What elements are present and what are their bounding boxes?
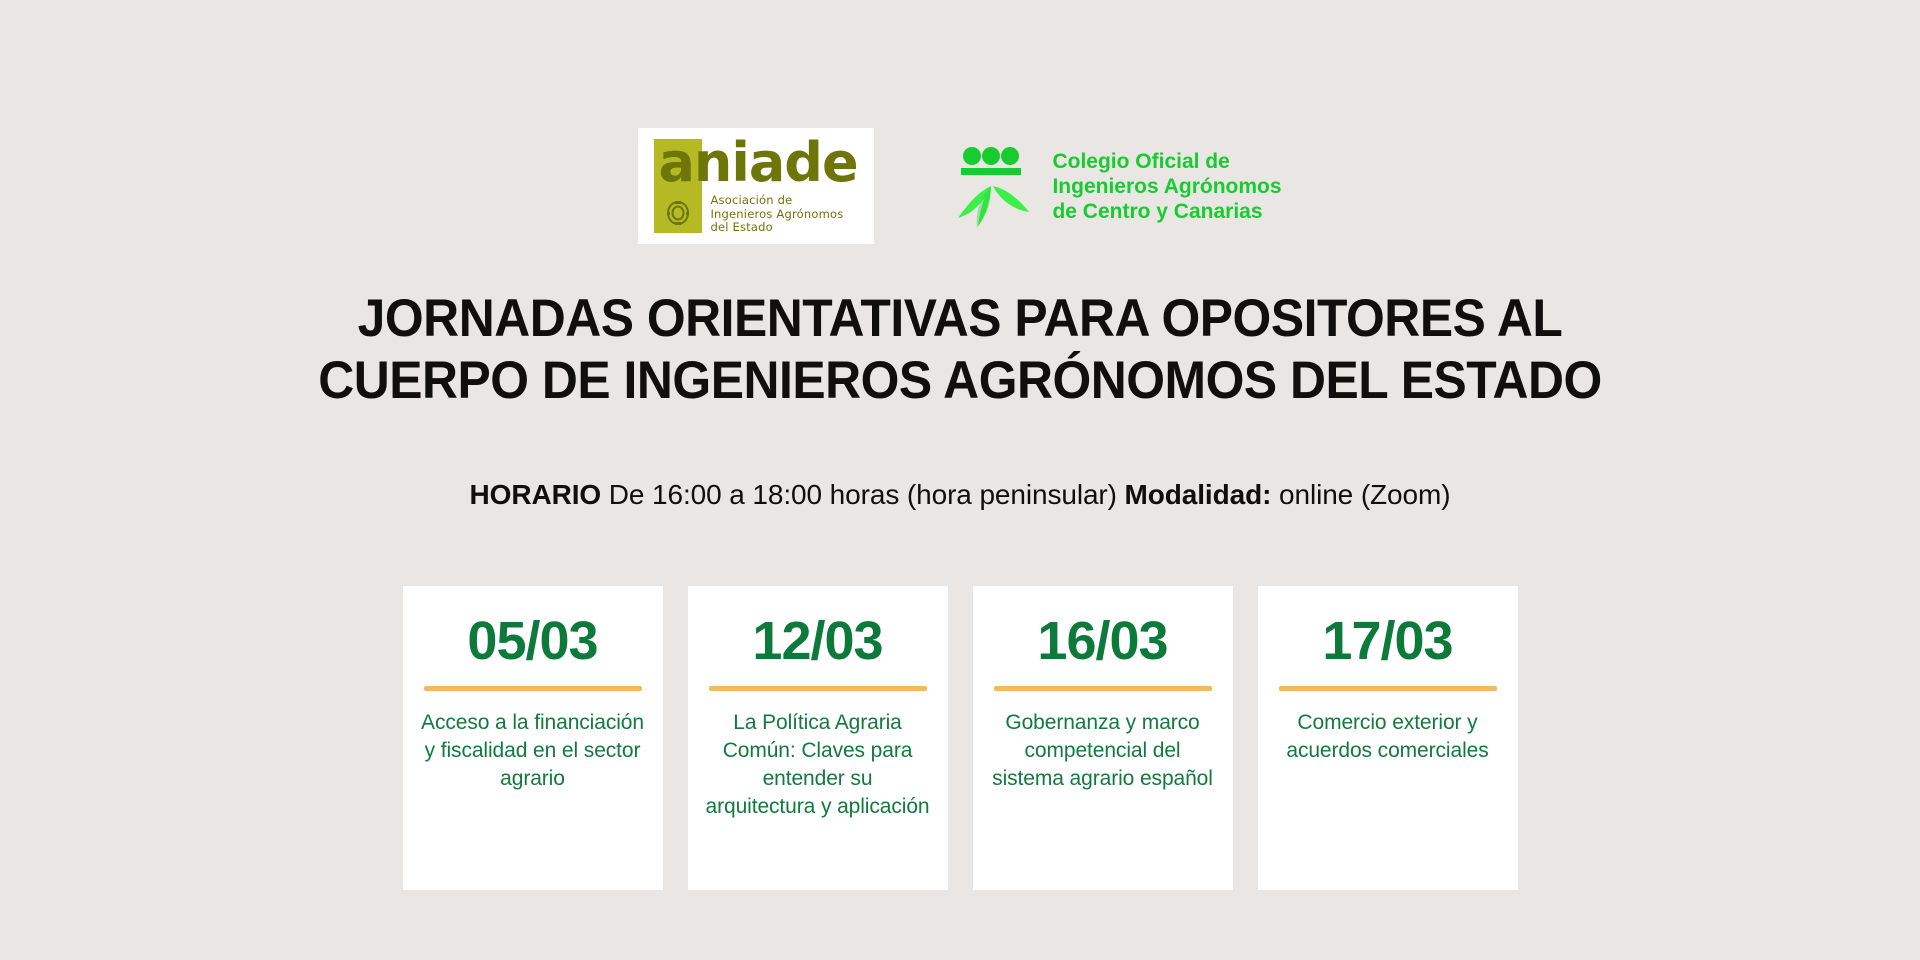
session-description: Comercio exterior y acuerdos comerciales <box>1276 709 1500 765</box>
session-date: 05/03 <box>467 612 597 670</box>
session-date: 16/03 <box>1037 612 1167 670</box>
colegio-text: Colegio Oficial de Ingenieros Agrónomos … <box>1052 149 1281 224</box>
session-divider <box>424 686 642 691</box>
session-divider <box>709 686 927 691</box>
page-title-line-2: CUERPO DE INGENIEROS AGRÓNOMOS DEL ESTAD… <box>58 350 1863 412</box>
three-dots-over-wheat-leaves-icon <box>944 140 1036 232</box>
modality-label: Modalidad: <box>1125 479 1272 510</box>
logo-row: aniade Asociación de Ingenieros Agrónomo… <box>0 128 1920 244</box>
colegio-text-line-1: Colegio Oficial de <box>1052 149 1281 174</box>
aniade-subtitle-line-2: Ingenieros Agrónomos <box>710 208 843 222</box>
session-divider <box>994 686 1212 691</box>
aniade-subtitle: Asociación de Ingenieros Agrónomos del E… <box>710 194 843 235</box>
colegio-text-line-3: de Centro y Canarias <box>1052 199 1281 224</box>
modality-value: online (Zoom) <box>1271 479 1450 510</box>
aniade-wordmark: aniade <box>658 136 857 190</box>
session-card-list: 05/03 Acceso a la financiación y fiscali… <box>0 586 1920 890</box>
session-card[interactable]: 16/03 Gobernanza y marco competencial de… <box>973 586 1233 890</box>
schedule-value: De 16:00 a 18:00 horas (hora peninsular) <box>601 479 1124 510</box>
session-description: Acceso a la financiación y fiscalidad en… <box>421 709 645 793</box>
session-divider <box>1279 686 1497 691</box>
session-description: La Política Agraria Común: Claves para e… <box>706 709 930 821</box>
session-date: 17/03 <box>1322 612 1452 670</box>
colegio-text-line-2: Ingenieros Agrónomos <box>1052 174 1281 199</box>
schedule-label: HORARIO <box>470 479 602 510</box>
session-card[interactable]: 12/03 La Política Agraria Común: Claves … <box>688 586 948 890</box>
poster-root: aniade Asociación de Ingenieros Agrónomo… <box>0 0 1920 960</box>
aniade-subtitle-line-1: Asociación de <box>710 194 843 208</box>
schedule-subtitle: HORARIO De 16:00 a 18:00 horas (hora pen… <box>0 478 1920 512</box>
aniade-logo: aniade Asociación de Ingenieros Agrónomo… <box>638 128 874 244</box>
session-card[interactable]: 17/03 Comercio exterior y acuerdos comer… <box>1258 586 1518 890</box>
page-title-line-1: JORNADAS ORIENTATIVAS PARA OPOSITORES AL <box>58 288 1863 350</box>
colegio-logo: Colegio Oficial de Ingenieros Agrónomos … <box>944 140 1281 232</box>
page-title: JORNADAS ORIENTATIVAS PARA OPOSITORES AL… <box>58 288 1863 412</box>
aniade-subtitle-line-3: del Estado <box>710 221 843 235</box>
coat-of-arms-seal-icon <box>666 200 690 226</box>
session-date: 12/03 <box>752 612 882 670</box>
session-description: Gobernanza y marco competencial del sist… <box>991 709 1215 793</box>
session-card[interactable]: 05/03 Acceso a la financiación y fiscali… <box>403 586 663 890</box>
